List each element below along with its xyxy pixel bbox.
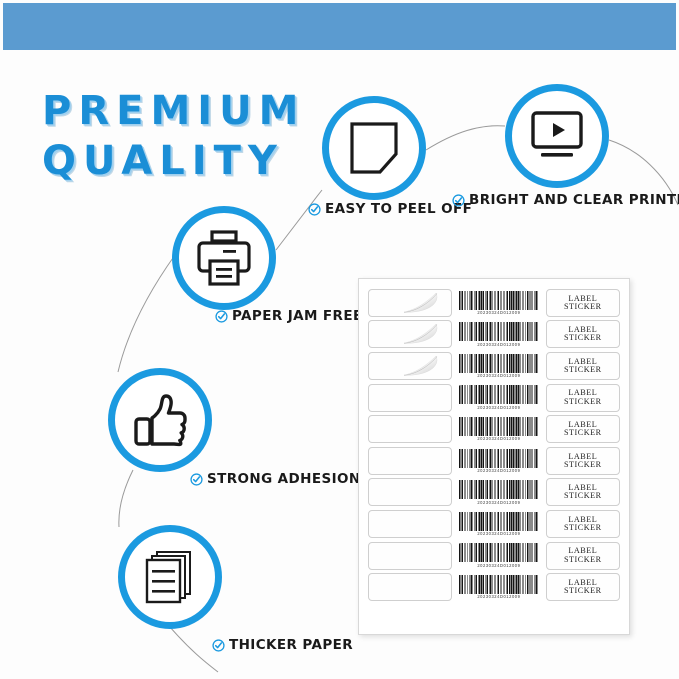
peel-corner-curl [401,353,447,377]
feature-caption-jam: PAPER JAM FREE [215,308,363,324]
feature-label-peel: EASY TO PEEL OFF [325,201,472,217]
check-circle-icon [452,194,465,207]
label-sheet-row: 20230324D012009LABELSTICKER [368,571,620,603]
blank-label-cell [368,510,452,538]
feature-caption-peel: EASY TO PEEL OFF [308,201,472,217]
sticker-line-2: STICKER [564,303,602,311]
title-line-2: QUALITY [42,142,305,180]
check-circle-icon [212,639,225,652]
barcode-label-cell: 20230324D012009 [457,352,540,380]
label-sheet-row: 20230324D012009LABELSTICKER [368,319,620,351]
barcode-number: 20230324D012009 [477,594,520,599]
sticker-line-2: STICKER [564,366,602,374]
barcode-number: 20230324D012009 [477,436,520,441]
feature-label-adhesion: STRONG ADHESION [207,471,361,487]
sticker-line-2: STICKER [564,334,602,342]
label-sheet-row: 20230324D012009LABELSTICKER [368,350,620,382]
blank-label-cell [368,320,452,348]
feature-label-thicker: THICKER PAPER [229,637,353,653]
text-label-cell: LABELSTICKER [546,384,620,412]
barcode-number: 20230324D012009 [477,373,520,378]
label-sheet-row: 20230324D012009LABELSTICKER [368,540,620,572]
text-label-cell: LABELSTICKER [546,510,620,538]
text-label-cell: LABELSTICKER [546,320,620,348]
text-label-cell: LABELSTICKER [546,542,620,570]
blank-label-cell [368,384,452,412]
barcode-number: 20230324D012009 [477,405,520,410]
sticker-line-2: STICKER [564,461,602,469]
blank-label-cell [368,289,452,317]
text-label-cell: LABELSTICKER [546,352,620,380]
blank-label-cell [368,542,452,570]
label-sheet-row: 20230324D012009LABELSTICKER [368,382,620,414]
text-label-cell: LABELSTICKER [546,415,620,443]
feature-caption-printing: BRIGHT AND CLEAR PRINTING [452,192,679,208]
label-sheet-row: 20230324D012009LABELSTICKER [368,413,620,445]
text-label-cell: LABELSTICKER [546,573,620,601]
sticker-line-2: STICKER [564,492,602,500]
title-line-1: PREMIUM [42,92,305,130]
peel-corner-curl [401,290,447,314]
barcode-label-cell: 20230324D012009 [457,447,540,475]
barcode-label-cell: 20230324D012009 [457,542,540,570]
sticker-line-2: STICKER [564,429,602,437]
feature-icon-circle-peel [322,96,426,200]
feature-icon-circle-thicker [118,525,222,629]
text-label-cell: LABELSTICKER [546,478,620,506]
feature-icon-circle-printing [505,84,609,188]
peel-corner-icon [344,118,404,178]
blank-label-cell [368,573,452,601]
label-sheet-row: 20230324D012009LABELSTICKER [368,287,620,319]
check-circle-icon [190,473,203,486]
label-sheet-row: 20230324D012009LABELSTICKER [368,445,620,477]
sticker-line-2: STICKER [564,524,602,532]
barcode-label-cell: 20230324D012009 [457,415,540,443]
feature-label-printing: BRIGHT AND CLEAR PRINTING [469,192,679,208]
label-sheet-row: 20230324D012009LABELSTICKER [368,477,620,509]
printer-icon [193,229,255,287]
paper-stack-icon [140,548,200,606]
text-label-cell: LABELSTICKER [546,447,620,475]
blank-label-cell [368,352,452,380]
barcode-label-cell: 20230324D012009 [457,573,540,601]
text-label-cell: LABELSTICKER [546,289,620,317]
blank-label-cell [368,447,452,475]
barcode-number: 20230324D012009 [477,563,520,568]
thumbs-up-icon [130,392,190,448]
barcode-label-cell: 20230324D012009 [457,289,540,317]
sticker-line-2: STICKER [564,398,602,406]
check-circle-icon [215,310,228,323]
check-circle-icon [308,203,321,216]
label-sheet-row: 20230324D012009LABELSTICKER [368,508,620,540]
feature-label-jam: PAPER JAM FREE [232,308,363,324]
barcode-label-cell: 20230324D012009 [457,510,540,538]
blank-label-cell [368,478,452,506]
sticker-line-2: STICKER [564,556,602,564]
peel-corner-curl [401,321,447,345]
blank-label-cell [368,415,452,443]
barcode-number: 20230324D012009 [477,468,520,473]
top-banner [3,3,676,50]
feature-icon-circle-adhesion [108,368,212,472]
infographic-canvas: PREMIUM QUALITY EASY TO PEEL OFF [0,0,679,679]
feature-caption-adhesion: STRONG ADHESION [190,471,361,487]
monitor-play-icon [526,108,588,164]
barcode-label-cell: 20230324D012009 [457,384,540,412]
label-sticker-sheet: 20230324D012009LABELSTICKER20230324D0120… [358,278,630,635]
barcode-number: 20230324D012009 [477,500,520,505]
barcode-number: 20230324D012009 [477,342,520,347]
barcode-number: 20230324D012009 [477,310,520,315]
page-title: PREMIUM QUALITY [42,92,305,180]
barcode-label-cell: 20230324D012009 [457,478,540,506]
feature-caption-thicker: THICKER PAPER [212,637,353,653]
barcode-label-cell: 20230324D012009 [457,320,540,348]
feature-icon-circle-printer [172,206,276,310]
barcode-number: 20230324D012009 [477,531,520,536]
sticker-line-2: STICKER [564,587,602,595]
